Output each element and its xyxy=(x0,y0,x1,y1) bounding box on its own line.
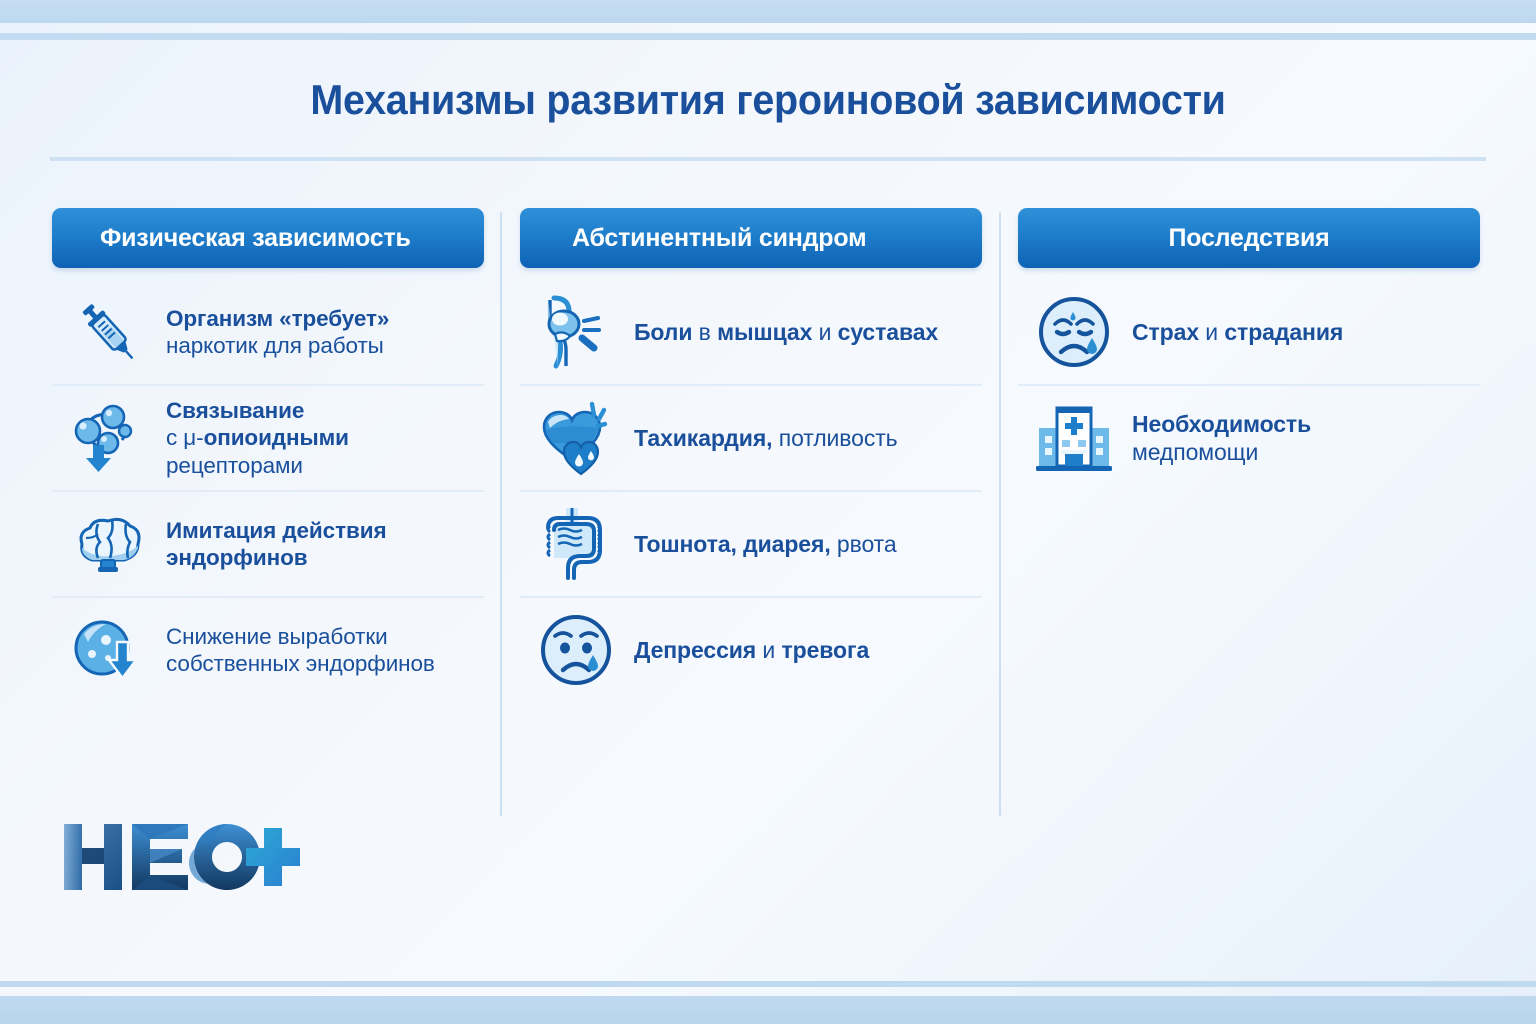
list-item-label: Необходимость медпомощи xyxy=(1132,410,1311,466)
list-item[interactable]: Связывание с μ-опиоидными рецепторами xyxy=(52,386,484,492)
item-text-2: и xyxy=(756,637,781,663)
item-text-2: в xyxy=(692,319,717,345)
top-decor-line xyxy=(0,33,1536,40)
column-header-physical[interactable]: Физическая зависимость xyxy=(52,208,484,268)
top-decor-band xyxy=(0,0,1536,23)
heart-sweat-icon xyxy=(534,396,618,480)
item-text-4: и xyxy=(812,319,837,345)
list-item-label: Имитация действия эндорфинов xyxy=(166,517,386,572)
column-physical-dependence: Физическая зависимость xyxy=(52,208,484,702)
item-line-2: медпомощи xyxy=(1132,438,1311,466)
syringe-icon xyxy=(66,290,150,374)
bottom-decor-line xyxy=(0,981,1536,987)
page-title: Механизмы развития героиновой зависимост… xyxy=(46,76,1490,124)
item-line-3: рецепторами xyxy=(166,452,349,479)
item-line-2a: с μ- xyxy=(166,425,204,450)
item-line-1: Необходимость xyxy=(1132,410,1311,438)
list-item-label: Депрессия и тревога xyxy=(634,636,869,664)
list-item[interactable]: Тошнота, диарея, рвота xyxy=(520,492,982,598)
column-header-consequences[interactable]: Последствия xyxy=(1018,208,1480,268)
item-line-1: Организм «требует» xyxy=(166,305,389,332)
item-text-3: тревога xyxy=(781,637,869,663)
title-divider xyxy=(50,157,1486,161)
column-consequences: Последствия xyxy=(1018,208,1480,490)
list-item[interactable]: Снижение выработки собственных эндорфино… xyxy=(52,598,484,702)
brain-icon xyxy=(66,502,150,586)
column-divider-1 xyxy=(500,212,502,816)
list-item[interactable]: Организм «требует» наркотик для работы xyxy=(52,280,484,386)
list-item-label: Снижение выработки собственных эндорфино… xyxy=(166,623,435,678)
item-line-2: собственных эндорфинов xyxy=(166,650,435,677)
list-item-label: Организм «требует» наркотик для работы xyxy=(166,305,389,360)
list-item-label: Связывание с μ-опиоидными рецепторами xyxy=(166,397,349,479)
sad-face-tear-icon xyxy=(534,608,618,692)
list-item[interactable]: Тахикардия, потливость xyxy=(520,386,982,492)
list-item-label: Боли в мышцах и суставах xyxy=(634,318,938,346)
list-item[interactable]: Депрессия и тревога xyxy=(520,598,982,702)
item-text-5: суставах xyxy=(838,319,938,345)
item-text-1: Тошнота, диарея, xyxy=(634,531,831,557)
item-line-2b: опиоидными xyxy=(204,425,349,450)
item-text-2: потливость xyxy=(772,425,897,451)
item-text-3: страдания xyxy=(1224,319,1343,345)
item-text-2: рвота xyxy=(831,531,897,557)
item-text-1: Страх xyxy=(1132,319,1199,345)
list-item[interactable]: Страх и страдания xyxy=(1018,280,1480,386)
list-item[interactable]: Необходимость медпомощи xyxy=(1018,386,1480,490)
intestines-icon xyxy=(534,502,618,586)
list-item[interactable]: Боли в мышцах и суставах xyxy=(520,280,982,386)
endorphin-decrease-icon xyxy=(66,608,150,692)
hospital-icon xyxy=(1032,396,1116,480)
worried-face-tear-icon xyxy=(1032,290,1116,374)
item-line-2: эндорфинов xyxy=(166,544,386,571)
bottom-decor-band xyxy=(0,996,1536,1024)
item-text-1: Боли xyxy=(634,319,692,345)
column-2-items: Боли в мышцах и суставах xyxy=(520,280,982,702)
column-header-withdrawal[interactable]: Абстинентный синдром xyxy=(520,208,982,268)
column-1-items: Организм «требует» наркотик для работы xyxy=(52,280,484,702)
list-item-label: Тахикардия, потливость xyxy=(634,424,898,452)
column-header-label: Физическая зависимость xyxy=(100,224,411,253)
joint-pain-icon xyxy=(534,290,618,374)
column-withdrawal-syndrome: Абстинентный синдром xyxy=(520,208,982,702)
column-divider-2 xyxy=(999,212,1001,816)
list-item[interactable]: Имитация действия эндорфинов xyxy=(52,492,484,598)
column-3-items: Страх и страдания xyxy=(1018,280,1480,490)
item-line-1: Снижение выработки xyxy=(166,623,435,650)
molecule-receptor-icon xyxy=(66,396,150,480)
item-text-1: Тахикардия, xyxy=(634,425,772,451)
logo-neo-plus[interactable] xyxy=(60,818,300,896)
item-line-2: с μ-опиоидными xyxy=(166,424,349,451)
column-header-label: Абстинентный синдром xyxy=(572,224,866,253)
item-line-1: Связывание xyxy=(166,397,349,424)
columns-container: Физическая зависимость xyxy=(0,208,1536,828)
list-item-label: Тошнота, диарея, рвота xyxy=(634,530,897,558)
item-line-1: Имитация действия xyxy=(166,517,386,544)
item-line-2: наркотик для работы xyxy=(166,332,389,359)
item-text-1: Депрессия xyxy=(634,637,756,663)
column-header-label: Последствия xyxy=(1168,224,1329,253)
list-item-label: Страх и страдания xyxy=(1132,318,1343,346)
item-text-2: и xyxy=(1199,319,1224,345)
item-text-3: мышцах xyxy=(717,319,812,345)
